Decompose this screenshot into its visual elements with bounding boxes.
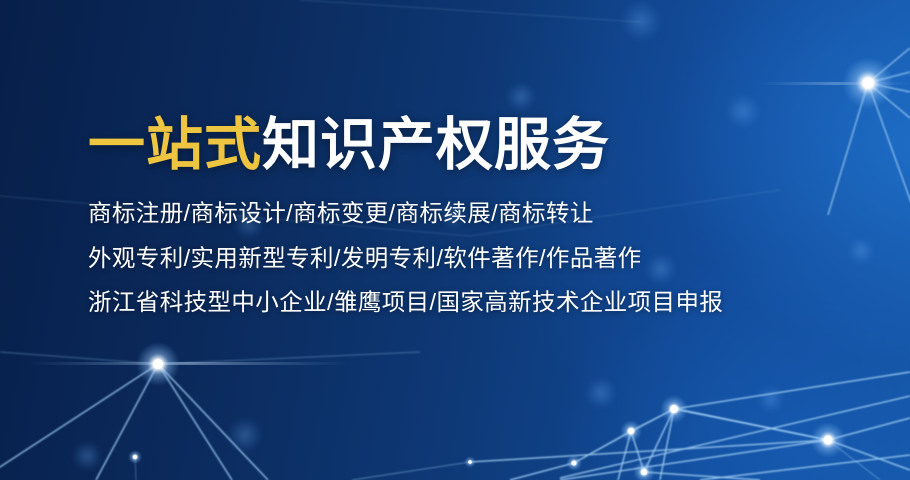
promo-banner: 一站式知识产权服务 商标注册/商标设计/商标变更/商标续展/商标转让 外观专利/…	[0, 0, 910, 480]
service-line-government-program: 浙江省科技型中小企业/雏鹰项目/国家高新技术企业项目申报	[88, 291, 848, 315]
service-list: 商标注册/商标设计/商标变更/商标续展/商标转让 外观专利/实用新型专利/发明专…	[88, 202, 848, 315]
page-title: 一站式知识产权服务	[88, 112, 848, 178]
service-line-trademark: 商标注册/商标设计/商标变更/商标续展/商标转让	[88, 202, 848, 226]
banner-text-block: 一站式知识产权服务 商标注册/商标设计/商标变更/商标续展/商标转让 外观专利/…	[88, 112, 848, 315]
service-line-patent: 外观专利/实用新型专利/发明专利/软件著作/作品著作	[88, 247, 848, 271]
headline-rest: 知识产权服务	[262, 113, 610, 177]
headline-highlight: 一站式	[88, 113, 262, 177]
